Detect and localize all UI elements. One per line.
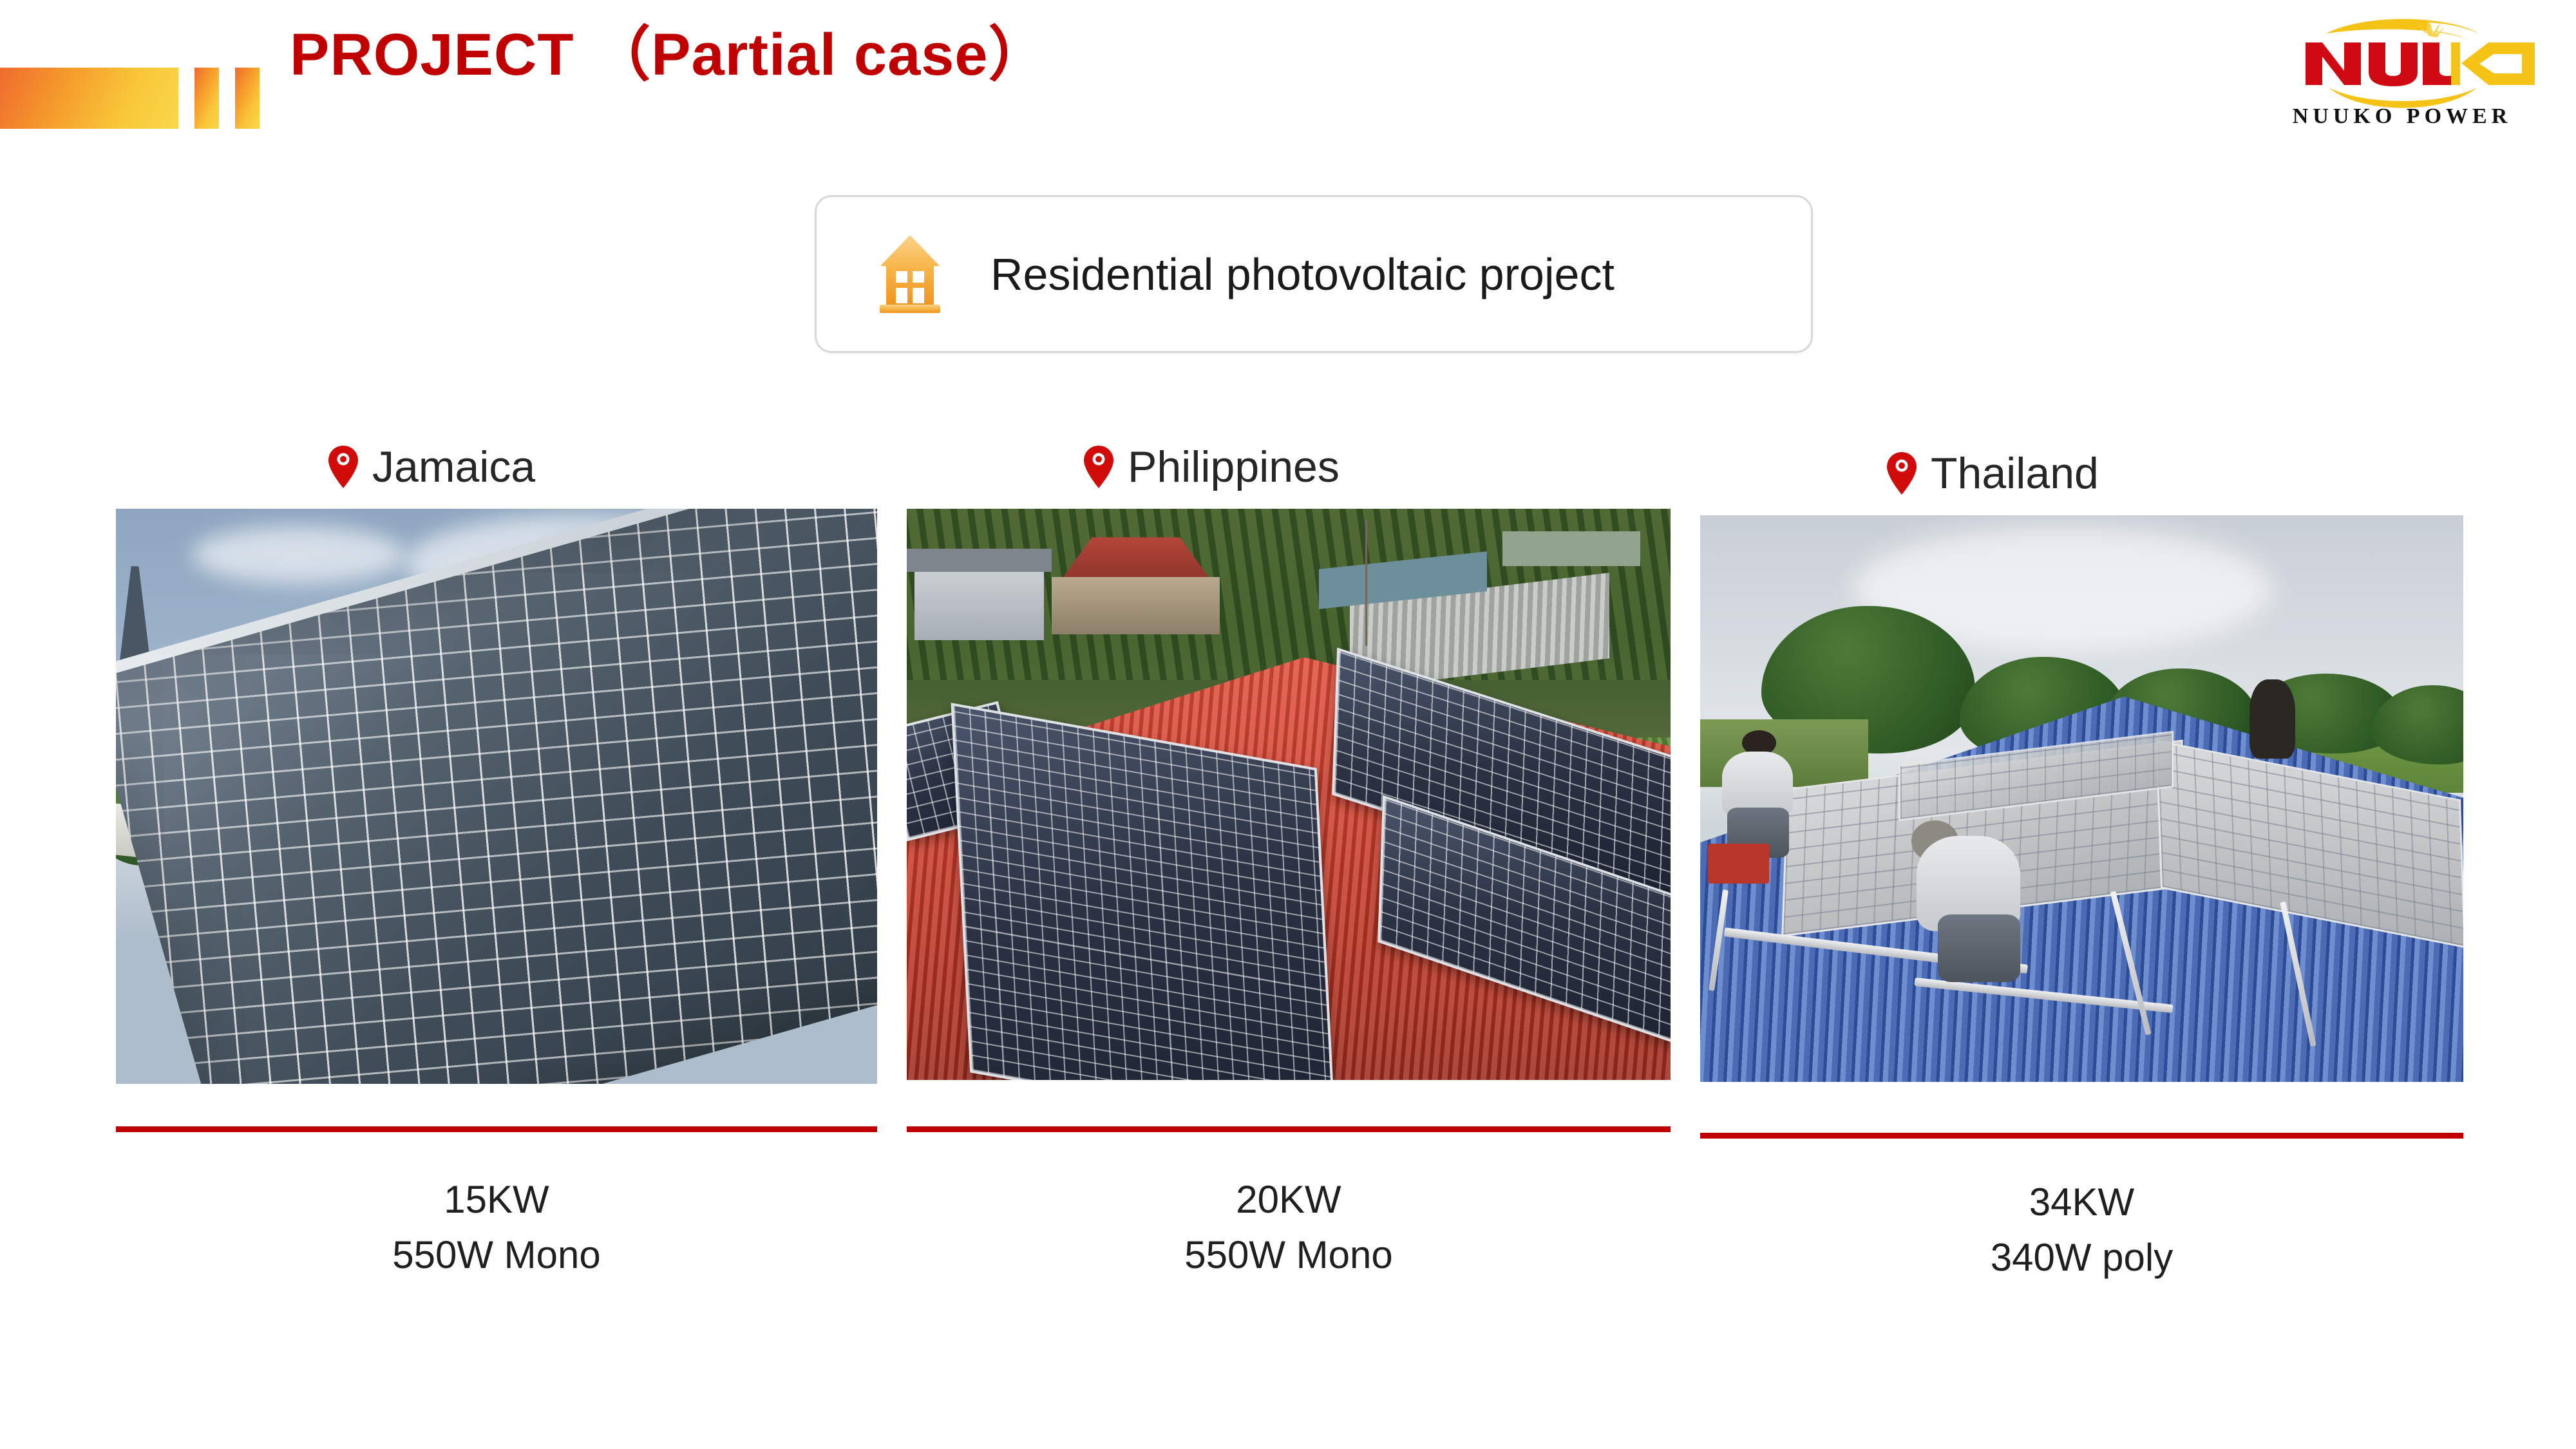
location-label-row: Thailand bbox=[1700, 431, 2463, 515]
module-value: 340W poly bbox=[1700, 1230, 2463, 1285]
map-pin-icon bbox=[328, 446, 358, 488]
capacity-value: 20KW bbox=[907, 1172, 1671, 1227]
divider-rule bbox=[116, 1126, 877, 1132]
location-name: Thailand bbox=[1931, 448, 2099, 498]
project-card-philippines: Philippines bbox=[907, 425, 1671, 1283]
map-pin-icon bbox=[1084, 446, 1113, 488]
green-roof bbox=[1502, 531, 1640, 565]
neighbour-roof bbox=[907, 549, 1052, 571]
capacity-value: 34KW bbox=[1700, 1175, 2463, 1230]
cloud bbox=[192, 526, 405, 583]
slide-root: PROJECT （Partial case） NUUKO POWER bbox=[0, 0, 2576, 1449]
location-name: Philippines bbox=[1128, 442, 1340, 492]
module-value: 550W Mono bbox=[116, 1227, 877, 1283]
project-caption: 20KW 550W Mono bbox=[907, 1172, 1671, 1283]
category-label: Residential photovoltaic project bbox=[990, 249, 1615, 300]
decoration-block-large bbox=[0, 68, 178, 129]
project-caption: 34KW 340W poly bbox=[1700, 1175, 2463, 1285]
brand-logo: NUUKO POWER bbox=[2267, 12, 2537, 144]
project-photo-jamaica bbox=[116, 509, 877, 1084]
utility-pole bbox=[1365, 520, 1367, 646]
map-pin-icon bbox=[1887, 452, 1917, 495]
neighbour-house bbox=[914, 560, 1045, 640]
project-card-jamaica: Jamaica bbox=[116, 425, 877, 1283]
category-chip[interactable]: Residential photovoltaic project bbox=[815, 195, 1813, 353]
module-value: 550W Mono bbox=[907, 1227, 1671, 1283]
location-label-row: Jamaica bbox=[116, 425, 877, 509]
location-label-row: Philippines bbox=[907, 425, 1671, 509]
decoration-bar-1 bbox=[194, 68, 219, 129]
worker-standing bbox=[1716, 730, 1799, 855]
location-name: Jamaica bbox=[372, 442, 535, 492]
worker-shirt bbox=[1722, 752, 1792, 817]
project-photo-philippines bbox=[907, 509, 1671, 1080]
shop-front bbox=[1052, 577, 1220, 634]
worker-pants bbox=[1938, 914, 2021, 983]
nuuko-logo-icon bbox=[2267, 12, 2537, 108]
page-title: PROJECT （Partial case） bbox=[290, 19, 1048, 90]
divider-rule bbox=[1700, 1133, 2463, 1139]
logo-tagline: NUUKO POWER bbox=[2267, 104, 2537, 129]
project-photo-thailand bbox=[1700, 515, 2463, 1082]
worker-kneeling bbox=[1899, 815, 2028, 985]
tool-box bbox=[1708, 844, 1769, 884]
project-card-thailand: Thailand bbox=[1700, 425, 2463, 1285]
worker-far bbox=[2249, 679, 2295, 759]
divider-rule bbox=[907, 1126, 1671, 1132]
house-icon bbox=[875, 234, 945, 314]
decoration-bar-2 bbox=[235, 68, 260, 129]
project-caption: 15KW 550W Mono bbox=[116, 1172, 877, 1283]
capacity-value: 15KW bbox=[116, 1172, 877, 1227]
